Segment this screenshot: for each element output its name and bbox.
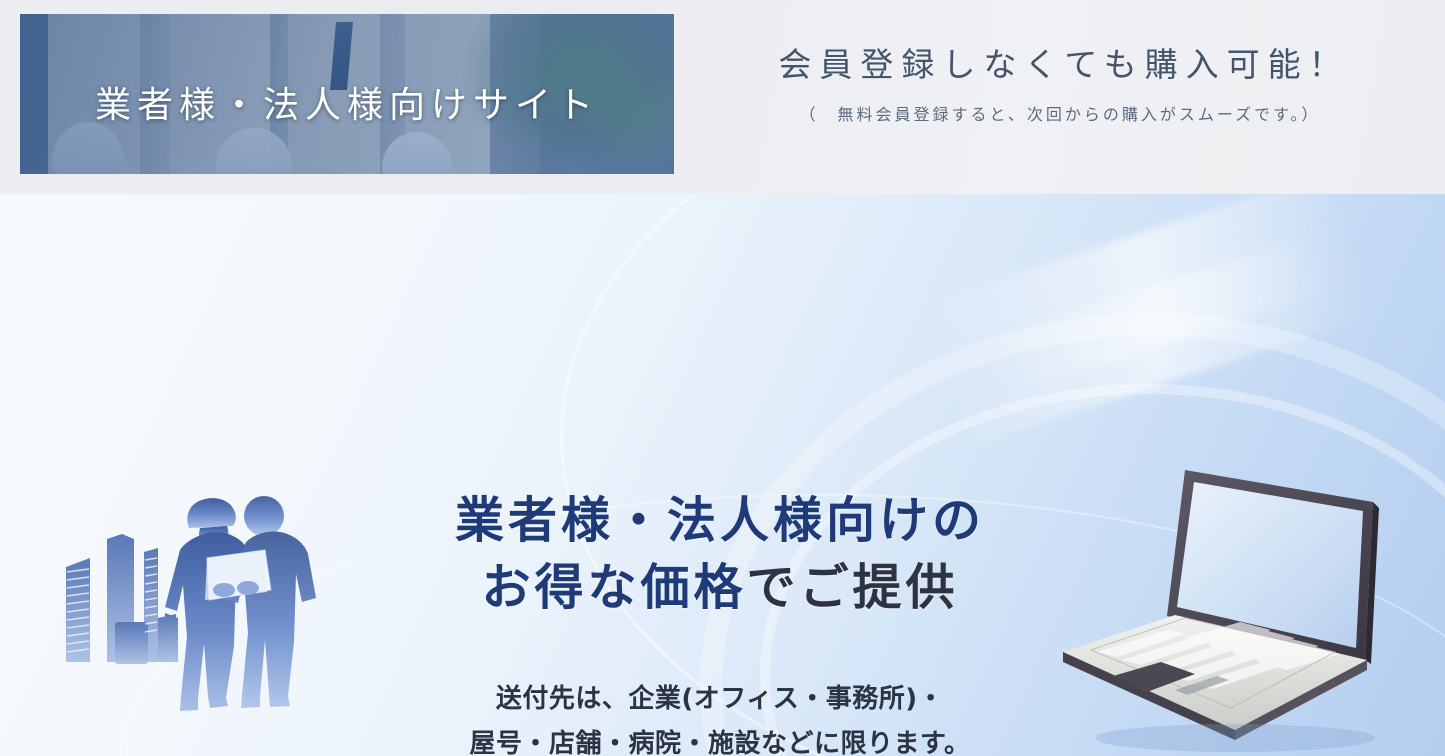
main-subcopy: 送付先は、企業(オフィス・事務所)・ 屋号・店舗・病院・施設などに限ります。	[380, 677, 1060, 756]
headline-line-2: お得な価格でご提供	[380, 555, 1060, 622]
subcopy-line-2: 屋号・店舗・病院・施設などに限ります。	[380, 722, 1060, 756]
main-promo-panel: 業者様・法人様向けの お得な価格でご提供 送付先は、企業(オフィス・事務所)・ …	[0, 194, 1445, 756]
headline-emphasis: お得な価格	[481, 559, 746, 616]
strip-subline: （ 無料会員登録すると、次回からの購入がスムーズです。）	[700, 101, 1420, 125]
headline-line-1: 業者様・法人様向けの	[380, 488, 1060, 555]
open-laptop-illustration	[1035, 452, 1385, 752]
strip-headline: 会員登録しなくても購入可能！	[700, 44, 1420, 85]
strip-copy: 会員登録しなくても購入可能！ （ 無料会員登録すると、次回からの購入がスムーズで…	[700, 44, 1420, 125]
hero-banner-image[interactable]: 業者様・法人様向けサイト	[20, 14, 674, 174]
hero-banner-title: 業者様・法人様向けサイト	[20, 76, 674, 128]
headline-tail: でご提供	[747, 559, 959, 616]
top-strip: 業者様・法人様向けサイト 会員登録しなくても購入可能！ （ 無料会員登録すると、…	[0, 0, 1445, 194]
main-headline: 業者様・法人様向けの お得な価格でご提供	[380, 488, 1060, 621]
subcopy-line-1: 送付先は、企業(オフィス・事務所)・	[380, 677, 1060, 722]
two-businessmen-illustration	[52, 472, 332, 717]
